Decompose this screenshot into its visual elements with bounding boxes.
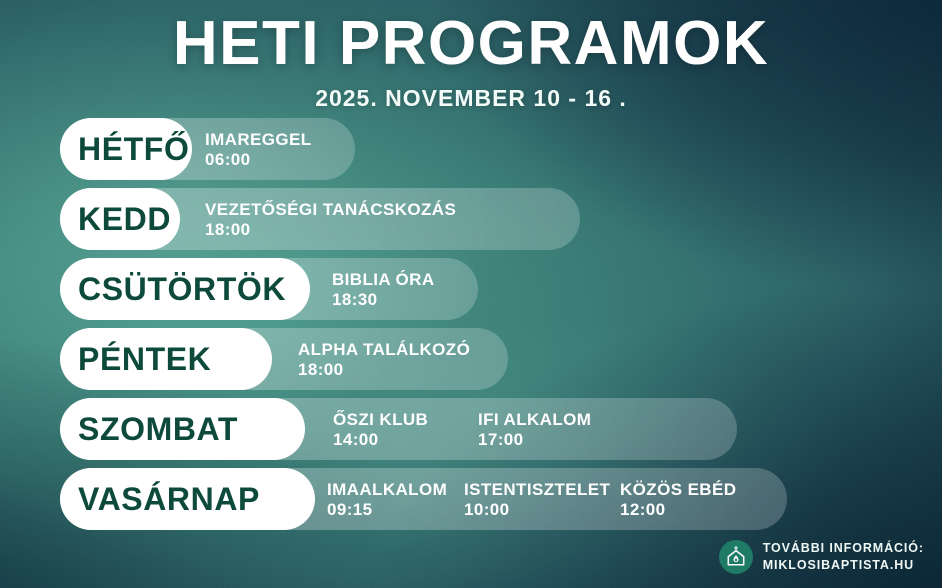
event-time: 09:15 [327,500,447,520]
day-label: PÉNTEK [78,343,211,375]
footer-text-block: TOVÁBBI INFORMÁCIÓ: MIKLOSIBAPTISTA.HU [763,540,924,574]
poster-header: HETI PROGRAMOK 2025. NOVEMBER 10 - 16 . [0,12,942,112]
church-house-flame-icon [719,540,753,574]
event-time: 10:00 [464,500,610,520]
schedule-row: HÉTFŐIMAREGGEL06:00 [0,118,942,180]
event-item[interactable]: ISTENTISZTELET10:00 [464,480,610,520]
event-item[interactable]: IMAALKALOM09:15 [327,480,447,520]
weekly-schedule-list: HÉTFŐIMAREGGEL06:00KEDDVEZETŐSÉGI TANÁCS… [0,118,942,538]
event-item[interactable]: IMAREGGEL06:00 [205,130,312,170]
event-item[interactable]: BIBLIA ÓRA18:30 [332,270,435,310]
day-pill-4[interactable]: PÉNTEK [60,328,272,390]
event-name: ISTENTISZTELET [464,480,610,500]
schedule-row: PÉNTEKALPHA TALÁLKOZÓ18:00 [0,328,942,390]
event-item[interactable]: KÖZÖS EBÉD12:00 [620,480,736,520]
event-item[interactable]: VEZETŐSÉGI TANÁCSKOZÁS18:00 [205,200,456,240]
day-label: KEDD [78,203,171,235]
event-name: IFI ALKALOM [478,410,591,430]
event-time: 17:00 [478,430,591,450]
event-time: 18:00 [205,220,456,240]
event-name: VEZETŐSÉGI TANÁCSKOZÁS [205,200,456,220]
day-pill-2[interactable]: KEDD [60,188,180,250]
schedule-row: SZOMBATŐSZI KLUB14:00IFI ALKALOM17:00 [0,398,942,460]
day-pill-1[interactable]: HÉTFŐ [60,118,192,180]
day-pill-6[interactable]: VASÁRNAP [60,468,315,530]
event-name: BIBLIA ÓRA [332,270,435,290]
event-time: 14:00 [333,430,428,450]
event-time: 18:30 [332,290,435,310]
footer-info: TOVÁBBI INFORMÁCIÓ: MIKLOSIBAPTISTA.HU [719,540,924,574]
event-item[interactable]: ALPHA TALÁLKOZÓ18:00 [298,340,470,380]
page-title: HETI PROGRAMOK [0,12,942,75]
footer-website-url[interactable]: MIKLOSIBAPTISTA.HU [763,557,924,574]
day-pill-5[interactable]: SZOMBAT [60,398,305,460]
event-name: IMAREGGEL [205,130,312,150]
schedule-row: KEDDVEZETŐSÉGI TANÁCSKOZÁS18:00 [0,188,942,250]
event-name: ŐSZI KLUB [333,410,428,430]
event-name: KÖZÖS EBÉD [620,480,736,500]
event-name: ALPHA TALÁLKOZÓ [298,340,470,360]
day-label: SZOMBAT [78,413,238,445]
date-range-subtitle: 2025. NOVEMBER 10 - 16 . [0,85,942,112]
event-item[interactable]: IFI ALKALOM17:00 [478,410,591,450]
footer-more-info-label: TOVÁBBI INFORMÁCIÓ: [763,540,924,557]
day-label: VASÁRNAP [78,483,260,515]
event-item[interactable]: ŐSZI KLUB14:00 [333,410,428,450]
event-time: 06:00 [205,150,312,170]
schedule-row: VASÁRNAPIMAALKALOM09:15ISTENTISZTELET10:… [0,468,942,530]
schedule-row: CSÜTÖRTÖKBIBLIA ÓRA18:30 [0,258,942,320]
day-label: CSÜTÖRTÖK [78,273,286,305]
day-label: HÉTFŐ [78,133,189,165]
event-time: 12:00 [620,500,736,520]
event-name: IMAALKALOM [327,480,447,500]
day-pill-3[interactable]: CSÜTÖRTÖK [60,258,310,320]
event-time: 18:00 [298,360,470,380]
poster-canvas: HETI PROGRAMOK 2025. NOVEMBER 10 - 16 . … [0,0,942,588]
